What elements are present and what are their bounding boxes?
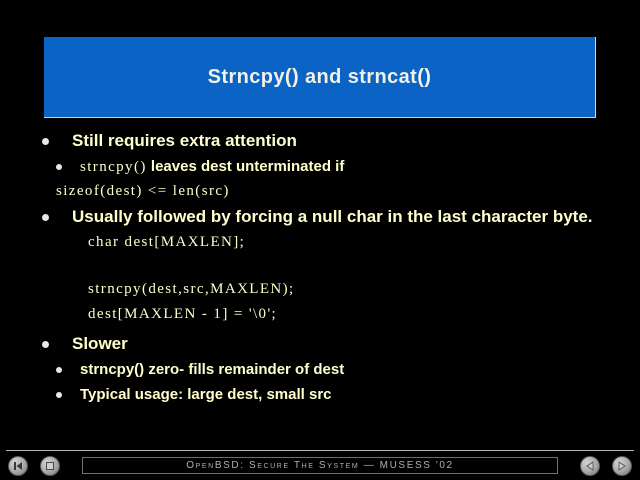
bullet-item: Still requires extra attention <box>0 128 640 154</box>
bullet-marker-icon <box>42 138 49 145</box>
arrow-right-icon <box>616 460 628 472</box>
bullet-item: strncpy() leaves dest unterminated if <box>0 154 640 179</box>
code-line: char dest[MAXLEN]; <box>0 230 640 255</box>
bullet-marker-icon <box>56 164 62 170</box>
code-blank-line <box>0 255 640 277</box>
bullet-text: Typical usage: large dest, small src <box>80 386 332 403</box>
stop-button[interactable] <box>40 456 60 476</box>
bullet-item: strncpy() zero- fills remainder of dest <box>0 357 640 382</box>
bullet-text: strncpy() zero- fills remainder of dest <box>80 361 344 378</box>
footer-divider <box>6 450 634 451</box>
footer-bar: OpenBSD: Secure The System — MUSESS '02 <box>82 457 558 474</box>
previous-slide-button[interactable] <box>580 456 600 476</box>
next-slide-button[interactable] <box>612 456 632 476</box>
arrow-left-icon <box>584 460 596 472</box>
code-line: strncpy(dest,src,MAXLEN); <box>0 277 640 302</box>
code-line: sizeof(dest) <= len(src) <box>0 179 640 204</box>
inline-code: strncpy() <box>80 159 147 175</box>
bullet-text: leaves dest unterminated if <box>147 158 345 175</box>
bullet-item: Usually followed by forcing a null char … <box>0 204 640 230</box>
page-title: Strncpy() and strncat() <box>208 66 432 89</box>
bullet-text: Still requires extra attention <box>72 131 297 150</box>
slide-title-banner: Strncpy() and strncat() <box>44 37 596 118</box>
bullet-marker-icon <box>56 392 62 398</box>
footer-text: OpenBSD: Secure The System — MUSESS '02 <box>186 460 453 471</box>
presentation-slide: Strncpy() and strncat() Still requires e… <box>0 0 640 480</box>
bullet-marker-icon <box>42 214 49 221</box>
bullet-text: Slower <box>72 334 128 353</box>
bullet-marker-icon <box>56 367 62 373</box>
skip-back-icon <box>12 460 24 472</box>
bullet-item: Typical usage: large dest, small src <box>0 382 640 407</box>
stop-square-icon <box>44 460 56 472</box>
bullet-marker-icon <box>42 341 49 348</box>
code-line: dest[MAXLEN - 1] = '\0'; <box>0 302 640 327</box>
slide-body: Still requires extra attention strncpy()… <box>0 128 640 438</box>
bullet-text: Usually followed by forcing a null char … <box>72 207 593 226</box>
bullet-item: Slower <box>0 331 640 357</box>
first-slide-button[interactable] <box>8 456 28 476</box>
